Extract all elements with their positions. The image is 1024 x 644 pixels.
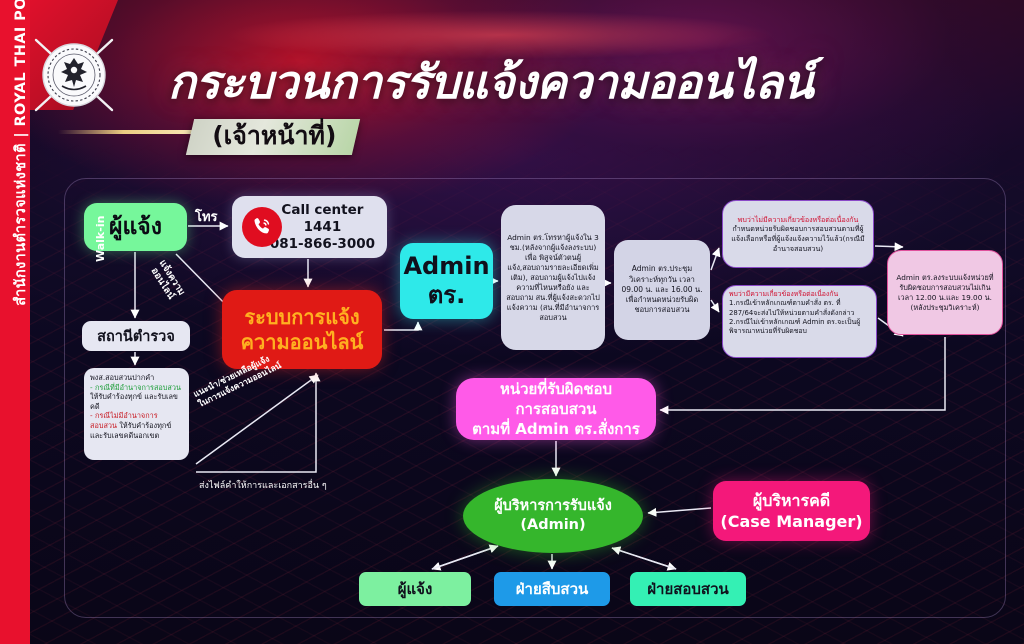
admin-line1: Admin: [403, 252, 489, 280]
detail-head: พงส.สอบสวนปากคำ: [90, 373, 154, 382]
title-gold-accent-line: [58, 130, 204, 134]
unit-line3: ตามที่ Admin ตร.สั่งการ: [472, 420, 640, 438]
system-line1: ระบบการแจ้ง: [244, 305, 359, 329]
page-subtitle: (เจ้าหน้าที่): [212, 121, 336, 151]
node-investigator-detail[interactable]: พงส.สอบสวนปากคำ - กรณีที่มีอำนาจการสอบสว…: [84, 368, 189, 460]
report-admin-line2: (Admin): [520, 517, 585, 533]
report-admin-line1: ผู้บริหารการรับแจ้ง: [494, 498, 612, 514]
edge-label-walk-in: Walk-in: [94, 216, 107, 262]
unit-line1: หน่วยที่รับผิดชอบ: [500, 380, 612, 398]
case-manager-line2: (Case Manager): [720, 512, 862, 531]
node-case-manager[interactable]: ผู้บริหารคดี (Case Manager): [713, 481, 870, 541]
detail-case-a-label: - กรณีที่มีอำนาจการสอบสวน: [90, 383, 181, 392]
edge-label-send-files: ส่งไฟล์คำให้การและเอกสารอื่น ๆ: [199, 478, 327, 492]
related-item-1: 1.กรณีเข้าหลักเกณฑ์ตามคำสั่ง ตร. ที่ 287…: [729, 299, 854, 316]
related-item-2: 2.กรณีไม่เข้าหลักเกณฑ์ Admin ตร.จะเป็นผู…: [729, 318, 860, 335]
call-center-text: Call center 1441 081-866-3000: [270, 202, 375, 253]
page-subtitle-banner: (เจ้าหน้าที่): [186, 119, 360, 155]
unit-line2: การสอบสวน: [515, 400, 596, 418]
related-emphasis: พบว่ามีความเกี่ยวข้องหรือต่อเนื่องกัน: [729, 290, 838, 298]
node-bottom-inquiry-division[interactable]: ฝ่ายสอบสวน: [630, 572, 746, 606]
node-admin-call-3h[interactable]: Admin ตร.โทรหาผู้แจ้งใน 3 ชม.(หลังจากผู้…: [501, 205, 605, 350]
node-police-station[interactable]: สถานีตำรวจ: [82, 321, 190, 351]
node-admin[interactable]: Admin ตร.: [400, 243, 493, 319]
page-title: กระบวนการรับแจ้งความออนไลน์: [168, 50, 968, 114]
edge-label-online-report: แจ้งความ ออนไลน์: [147, 258, 187, 303]
case-manager-line1: ผู้บริหารคดี: [753, 491, 830, 510]
node-call-center[interactable]: Call center 1441 081-866-3000: [232, 196, 387, 258]
phone-icon: [242, 207, 282, 247]
node-bottom-investigation-division[interactable]: ฝ่ายสืบสวน: [494, 572, 610, 606]
call-center-line3: 081-866-3000: [270, 236, 375, 252]
royal-thai-police-emblem: [24, 26, 124, 122]
node-responsible-unit[interactable]: หน่วยที่รับผิดชอบ การสอบสวน ตามที่ Admin…: [456, 378, 656, 440]
not-related-emphasis: พบว่าไม่มีความเกี่ยวข้องหรือต่อเนื่องกัน: [738, 215, 859, 224]
node-related[interactable]: พบว่ามีความเกี่ยวข้องหรือต่อเนื่องกัน 1.…: [722, 285, 877, 358]
node-not-related[interactable]: พบว่าไม่มีความเกี่ยวข้องหรือต่อเนื่องกัน…: [722, 200, 874, 268]
admin-line2: ตร.: [428, 281, 466, 309]
edge-label-call: โทร: [195, 206, 218, 227]
node-report-admin[interactable]: ผู้บริหารการรับแจ้ง (Admin): [463, 479, 643, 553]
node-online-report-system[interactable]: ระบบการแจ้ง ความออนไลน์: [222, 290, 382, 369]
call-center-line1: Call center: [281, 202, 363, 218]
call-center-line2: 1441: [304, 219, 342, 235]
system-line2: ความออนไลน์: [241, 330, 364, 354]
node-bottom-reporter[interactable]: ผู้แจ้ง: [359, 572, 471, 606]
not-related-body: กำหนดหน่วยรับผิดชอบการสอบสวนตามที่ผู้แจ้…: [731, 224, 864, 252]
detail-case-a-text: ให้รับคำร้องทุกข์ และรับเลขคดี: [90, 392, 178, 411]
node-admin-daily-meeting[interactable]: Admin ตร.ประชุมวิเคราะห์ทุกวัน เวลา 09.0…: [614, 240, 710, 340]
node-admin-notify-unit[interactable]: Admin ตร.ลงระบบแจ้งหน่วยที่รับผิดชอบการส…: [887, 250, 1003, 335]
